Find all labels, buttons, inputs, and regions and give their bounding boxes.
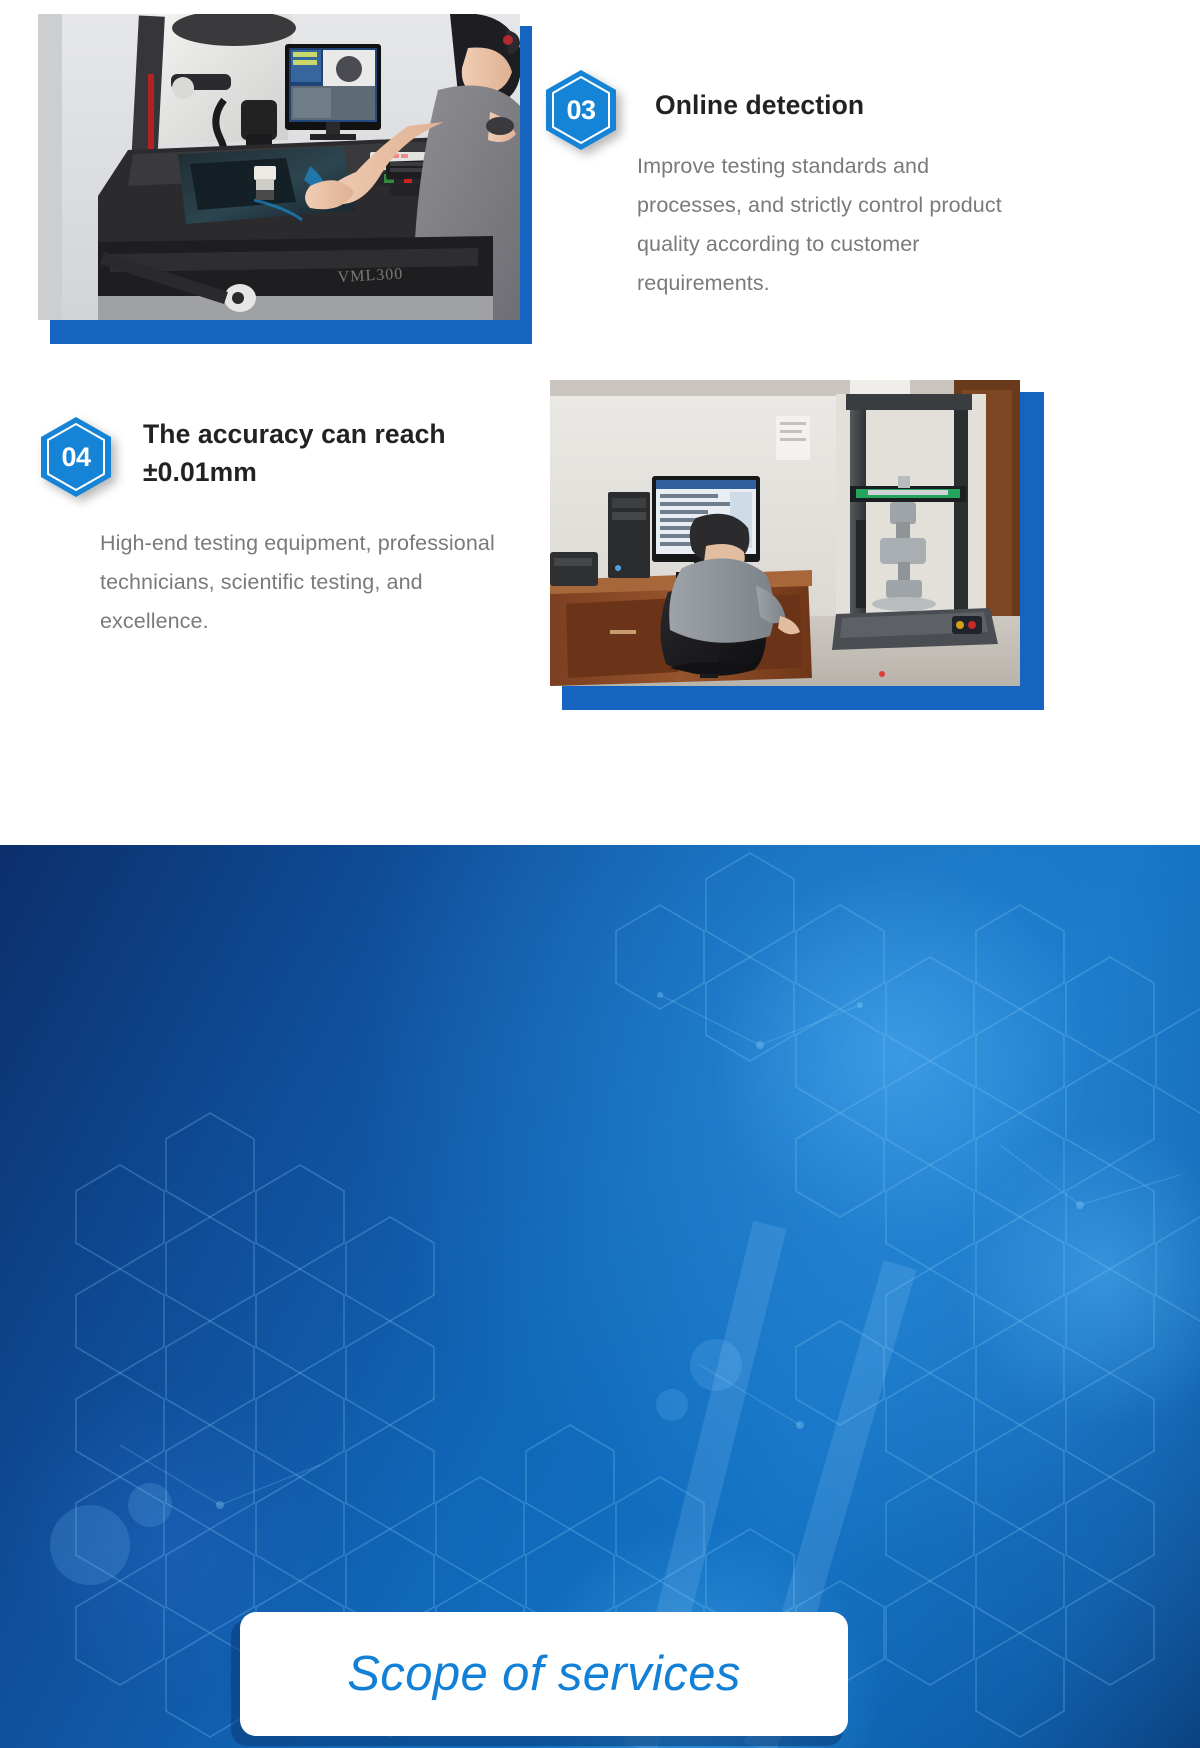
banner-plaque: Scope of services [240,1612,848,1736]
page-title: Scope of services [347,1646,741,1702]
feature-body-04: High-end testing equipment, professional… [100,524,530,641]
features-section: VML300 03 Online detection Improve testi… [0,0,1200,845]
tensile-testing-machine-photo [550,380,1020,686]
feature-badge-number: 03 [543,68,619,152]
optical-measuring-machine-photo: VML300 [38,14,520,320]
feature-badge-number: 04 [38,415,114,499]
scope-of-services-section: Scope of services [0,845,1200,1748]
feature-title-03: Online detection [655,87,1075,125]
feature-badge-04: 04 [38,415,114,499]
svg-text:VML300: VML300 [337,266,403,286]
feature-photo-frame-1: VML300 [38,14,520,332]
feature-badge-03: 03 [543,68,619,152]
feature-title-04: The accuracy can reach ±0.01mm [143,416,533,491]
feature-photo-frame-2 [550,380,1032,698]
feature-body-03: Improve testing standards and processes,… [637,147,1037,304]
